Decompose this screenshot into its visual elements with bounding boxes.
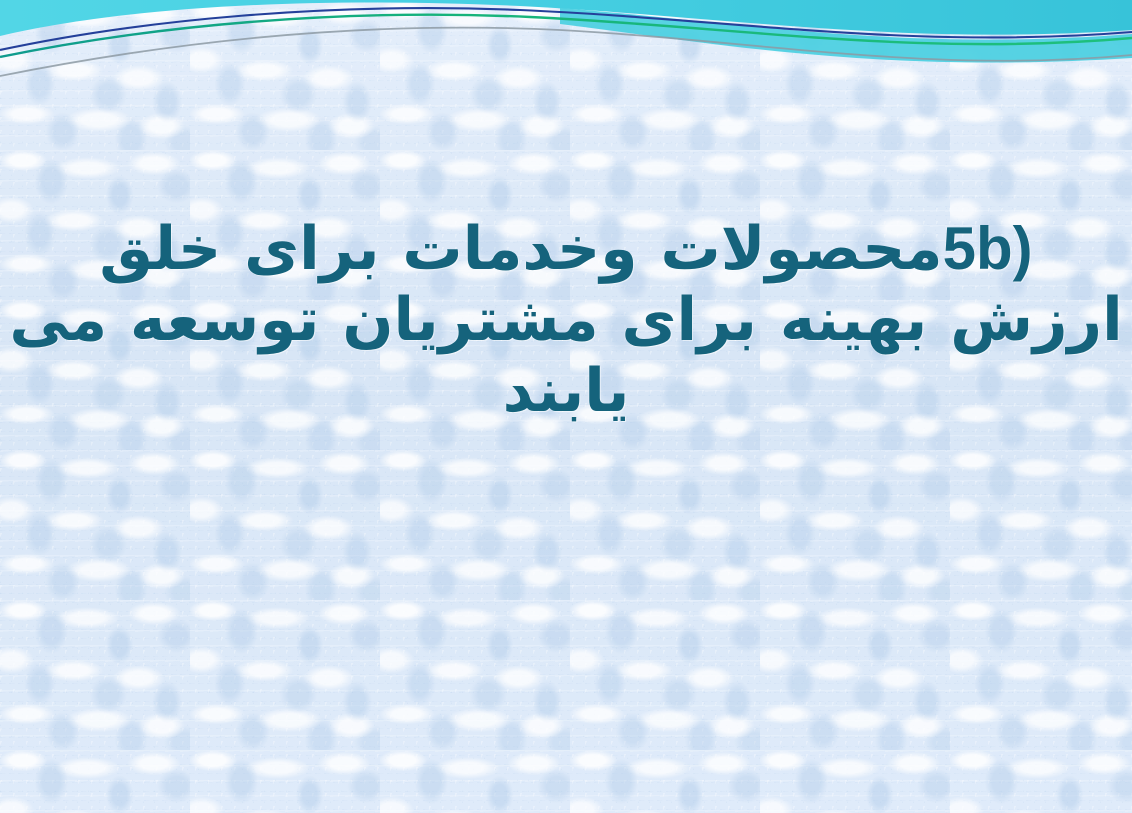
presentation-slide: 5b)محصولات وخدمات برای خلقارزش بهینه برا… [0, 0, 1132, 813]
title-marker: 5b) [943, 215, 1033, 282]
slide-title-block: 5b)محصولات وخدمات برای خلقارزش بهینه برا… [0, 214, 1132, 426]
title-line-1: محصولات وخدمات برای خلق [99, 214, 942, 284]
title-line-3: یابند [503, 356, 630, 426]
page-title: 5b)محصولات وخدمات برای خلقارزش بهینه برا… [0, 214, 1132, 426]
title-line-2: ارزش بهینه برای مشتریان توسعه می [9, 285, 1122, 355]
